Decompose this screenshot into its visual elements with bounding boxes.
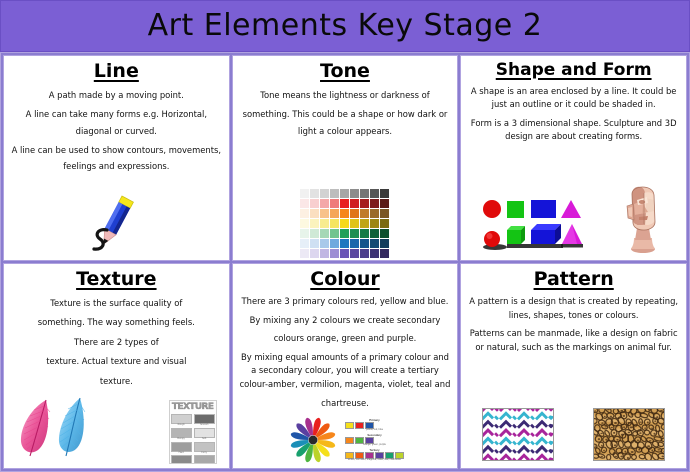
line-artwork: [10, 178, 223, 258]
tone-swatch-orange-8: [370, 209, 379, 218]
sculpture-head-icon: [620, 180, 666, 254]
colour-legend-swatch: [355, 422, 364, 429]
tone-swatch-grey-9: [380, 189, 389, 198]
colour-wheel-hub: [308, 436, 317, 445]
cell-body-texture: Texture is the surface quality of someth…: [10, 295, 223, 392]
texture-paragraph-5: texture.: [10, 373, 223, 389]
tone-swatch-blue-1: [300, 239, 309, 248]
tone-artwork: [239, 142, 452, 258]
tone-swatch-red-4: [330, 199, 339, 208]
tone-swatch-purple-5: [340, 249, 349, 258]
colour-paragraph-1: There are 3 primary colours red, yellow …: [239, 295, 452, 309]
colour-artwork: Primaryyellow, red, blueSecondaryorange,…: [239, 415, 452, 466]
shape-triangle-icon: [561, 200, 581, 218]
art-elements-poster: Art Elements Key Stage 2 Line A path mad…: [0, 0, 690, 465]
tone-swatch-blue-8: [370, 239, 379, 248]
cell-pattern: Pattern A pattern is a design that is cr…: [460, 263, 687, 469]
tone-swatch-grey-4: [330, 189, 339, 198]
blue-feather-icon: [59, 398, 85, 456]
tone-swatch-yellow-2: [310, 219, 319, 228]
tone-swatch-purple-6: [350, 249, 359, 258]
tone-swatch-orange-4: [330, 209, 339, 218]
tone-swatch-grid: [300, 189, 389, 258]
shape-paragraph-1: A shape is an area enclosed by a line. I…: [467, 85, 680, 112]
form-sphere-icon: [484, 231, 500, 247]
tone-swatch-purple-7: [360, 249, 369, 258]
texture-paragraph-2: something. The way something feels.: [10, 314, 223, 330]
texture-chart-item: Bumpy: [171, 428, 192, 440]
tone-swatch-orange-3: [320, 209, 329, 218]
tone-swatch-blue-4: [330, 239, 339, 248]
texture-sample-icon: [171, 455, 192, 464]
cell-title-pattern: Pattern: [534, 269, 614, 291]
colour-paragraph-3: colours orange, green and purple.: [239, 332, 452, 346]
tone-swatch-blue-7: [360, 239, 369, 248]
chevron-pattern-swatch: [482, 408, 554, 461]
tone-swatch-red-6: [350, 199, 359, 208]
tone-swatch-yellow-6: [350, 219, 359, 228]
tone-swatch-green-1: [300, 229, 309, 238]
tone-swatch-purple-4: [330, 249, 339, 258]
texture-sample-label: Rough: [178, 424, 185, 426]
colour-wheel-icon: [286, 415, 340, 465]
cell-title-texture: Texture: [76, 269, 156, 291]
tone-swatch-green-5: [340, 229, 349, 238]
tone-swatch-blue-2: [310, 239, 319, 248]
cell-body-pattern: A pattern is a design that is created by…: [467, 295, 680, 359]
colour-legend-group: Primaryyellow, red, blue: [345, 419, 404, 432]
shape-paragraph-2: Form is a 3 dimensional shape. Sculpture…: [467, 117, 680, 144]
pink-feather-icon: [21, 400, 50, 456]
texture-artwork: TEXTURE RoughSmoothBumpySoftHardFurryShi…: [10, 392, 223, 466]
tone-swatch-green-3: [320, 229, 329, 238]
cell-title-tone: Tone: [320, 61, 370, 83]
texture-sample-label: Soft: [202, 438, 206, 440]
tone-swatch-grey-7: [360, 189, 369, 198]
form-cuboid-icon: [531, 224, 561, 244]
tone-swatch-yellow-8: [370, 219, 379, 228]
cell-tone: Tone Tone means the lightness or darknes…: [232, 55, 459, 261]
tone-swatch-red-3: [320, 199, 329, 208]
cell-body-tone: Tone means the lightness or darkness of …: [239, 87, 452, 142]
tone-swatch-grey-5: [340, 189, 349, 198]
colour-legend-group: Tertiaryamber, vermilion, magenta, viole…: [345, 449, 404, 462]
texture-chart-item: Hard: [171, 442, 192, 454]
colour-paragraph-2: By mixing any 2 colours we create second…: [239, 314, 452, 328]
tone-swatch-orange-6: [350, 209, 359, 218]
tone-swatch-orange-2: [310, 209, 319, 218]
tone-swatch-orange-5: [340, 209, 349, 218]
colour-legend-swatch: [345, 422, 354, 429]
shape-square-icon: [507, 201, 524, 218]
elements-grid: Line A path made by a moving point. A li…: [0, 52, 690, 472]
texture-chart-heading: TEXTURE: [172, 403, 214, 412]
tone-swatch-green-2: [310, 229, 319, 238]
shapes-and-forms-icon: [481, 198, 585, 254]
tone-swatch-purple-2: [310, 249, 319, 258]
texture-chart-item: Furry: [194, 442, 215, 454]
colour-legend-caption: orange, green, purple: [345, 444, 404, 447]
tone-swatch-blue-6: [350, 239, 359, 248]
form-cone-icon: [562, 224, 582, 244]
tone-swatch-yellow-7: [360, 219, 369, 228]
tone-swatch-purple-9: [380, 249, 389, 258]
tone-swatch-orange-1: [300, 209, 309, 218]
tone-swatch-yellow-5: [340, 219, 349, 228]
leopard-print-swatch: [593, 408, 665, 461]
tone-swatch-blue-3: [320, 239, 329, 248]
tone-paragraph-2: something. This could be a shape or how …: [239, 106, 452, 139]
tone-swatch-red-1: [300, 199, 309, 208]
tone-swatch-purple-8: [370, 249, 379, 258]
texture-chart-item: Coarse: [194, 455, 215, 464]
colour-paragraph-5: chartreuse.: [239, 397, 452, 411]
feathers-icon: [16, 394, 104, 464]
cell-colour: Colour There are 3 primary colours red, …: [232, 263, 459, 469]
tone-swatch-green-8: [370, 229, 379, 238]
texture-chart-item: Rough: [171, 414, 192, 426]
form-cube-icon: [507, 226, 525, 244]
line-paragraph-3: A line can be used to show contours, mov…: [10, 142, 223, 175]
cell-shape-and-form: Shape and Form A shape is an area enclos…: [460, 55, 687, 261]
pattern-artwork: [467, 359, 680, 466]
shape-and-form-artwork: [467, 149, 680, 258]
pattern-paragraph-1: A pattern is a design that is created by…: [467, 295, 680, 322]
tone-swatch-green-9: [380, 229, 389, 238]
cell-title-line: Line: [94, 61, 139, 83]
cell-line: Line A path made by a moving point. A li…: [3, 55, 230, 261]
tone-swatch-green-6: [350, 229, 359, 238]
colour-legend-caption: amber, vermilion, magenta, violet, teal,…: [345, 459, 404, 462]
tone-swatch-red-2: [310, 199, 319, 208]
tone-swatch-blue-9: [380, 239, 389, 248]
texture-chart-icon: TEXTURE RoughSmoothBumpySoftHardFurryShi…: [169, 400, 217, 464]
tone-swatch-purple-1: [300, 249, 309, 258]
poster-title-banner: Art Elements Key Stage 2: [0, 0, 690, 52]
tone-swatch-grey-2: [310, 189, 319, 198]
tone-swatch-grey-6: [350, 189, 359, 198]
cell-title-shape-and-form: Shape and Form: [496, 61, 652, 81]
tone-swatch-green-4: [330, 229, 339, 238]
texture-chart-item: Soft: [194, 428, 215, 440]
tone-swatch-grey-8: [370, 189, 379, 198]
texture-paragraph-3: There are 2 types of: [10, 334, 223, 350]
texture-sample-label: Hard: [179, 452, 184, 454]
pattern-paragraph-2: Patterns can be manmade, like a design o…: [467, 327, 680, 354]
tone-swatch-orange-7: [360, 209, 369, 218]
tone-swatch-yellow-9: [380, 219, 389, 228]
tone-paragraph-1: Tone means the lightness or darkness of: [239, 87, 452, 103]
tone-swatch-grey-1: [300, 189, 309, 198]
texture-chart-item: Shiny: [171, 455, 192, 464]
texture-sample-label: Bumpy: [177, 438, 184, 440]
colour-paragraph-4: By mixing equal amounts of a primary col…: [239, 351, 452, 392]
texture-chart-items: RoughSmoothBumpySoftHardFurryShinyCoarse: [171, 414, 215, 465]
colour-legend-swatch: [345, 437, 354, 444]
colour-legend-caption: yellow, red, blue: [345, 429, 404, 432]
tone-swatch-red-5: [340, 199, 349, 208]
texture-paragraph-1: Texture is the surface quality of: [10, 295, 223, 311]
texture-sample-icon: [194, 455, 215, 464]
texture-sample-label: Furry: [201, 452, 207, 454]
tone-swatch-red-8: [370, 199, 379, 208]
texture-paragraph-4: texture. Actual texture and visual: [10, 353, 223, 369]
tone-swatch-grey-3: [320, 189, 329, 198]
shape-rectangle-icon: [531, 200, 556, 218]
tone-swatch-yellow-1: [300, 219, 309, 228]
shape-circle-icon: [483, 200, 501, 218]
tone-swatch-orange-9: [380, 209, 389, 218]
colour-wheel-legend: Primaryyellow, red, blueSecondaryorange,…: [345, 419, 404, 466]
colour-legend-group: Secondaryorange, green, purple: [345, 434, 404, 447]
cell-body-colour: There are 3 primary colours red, yellow …: [239, 295, 452, 415]
pencil-icon: [76, 190, 156, 258]
tone-swatch-purple-3: [320, 249, 329, 258]
tone-swatch-yellow-4: [330, 219, 339, 228]
line-paragraph-2: A line can take many forms e.g. Horizont…: [10, 106, 223, 139]
line-paragraph-1: A path made by a moving point.: [10, 87, 223, 103]
cell-title-colour: Colour: [310, 269, 379, 291]
page-title: Art Elements Key Stage 2: [148, 11, 543, 41]
tone-swatch-red-7: [360, 199, 369, 208]
tone-swatch-yellow-3: [320, 219, 329, 228]
texture-chart-item: Smooth: [194, 414, 215, 426]
cell-body-shape-and-form: A shape is an area enclosed by a line. I…: [467, 85, 680, 149]
cell-body-line: A path made by a moving point. A line ca…: [10, 87, 223, 178]
texture-sample-label: Smooth: [200, 424, 208, 426]
tone-swatch-blue-5: [340, 239, 349, 248]
tone-swatch-red-9: [380, 199, 389, 208]
tone-swatch-green-7: [360, 229, 369, 238]
cell-texture: Texture Texture is the surface quality o…: [3, 263, 230, 469]
